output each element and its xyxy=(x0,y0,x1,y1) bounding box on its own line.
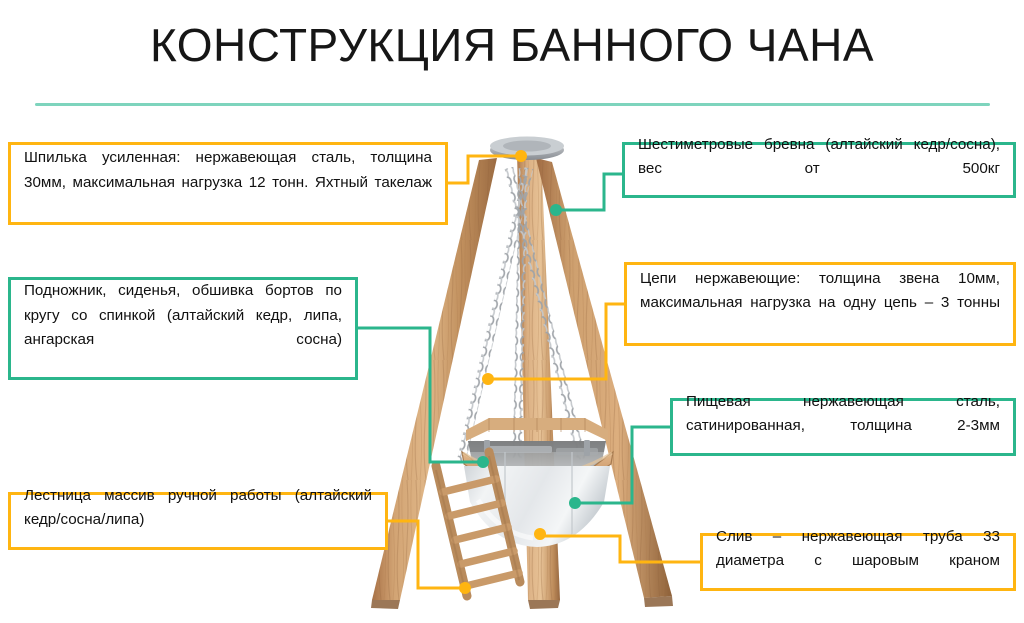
connector-dot-ladder xyxy=(459,582,471,594)
connector-logs xyxy=(556,174,622,210)
connector-dot-steel xyxy=(569,497,581,509)
callout-logs-text: Шестиметровые бревна (алтайский кедр/сос… xyxy=(638,133,1000,207)
connector-dot-drain xyxy=(534,528,546,540)
connector-dot-chains xyxy=(482,373,494,385)
connector-steel xyxy=(575,427,670,503)
connector-dot-stud xyxy=(515,150,527,162)
connector-drain xyxy=(540,534,700,562)
connector-dot-lining xyxy=(477,456,489,468)
callout-lining-text: Подножник, сиденья, обшивка бортов по кр… xyxy=(24,279,342,377)
callout-stud[interactable]: Шпилька усиленная: нержавеющая сталь, то… xyxy=(8,142,448,225)
connector-stud xyxy=(447,156,521,183)
connector-lining xyxy=(358,328,483,462)
callout-stud-text: Шпилька усиленная: нержавеющая сталь, то… xyxy=(24,146,432,220)
callout-food-steel[interactable]: Пищевая нержавеющая сталь, сатинированна… xyxy=(670,398,1016,456)
callout-ladder-text: Лестница массив ручной работы (алтайский… xyxy=(24,484,372,558)
callout-drain-text: Слив – нержавеющая труба 33 диаметра с ш… xyxy=(716,525,1000,599)
callout-logs[interactable]: Шестиметровые бревна (алтайский кедр/сос… xyxy=(622,142,1016,198)
callout-chains[interactable]: Цепи нержавеющие: толщина звена 10мм, ма… xyxy=(624,262,1016,346)
callout-lining[interactable]: Подножник, сиденья, обшивка бортов по кр… xyxy=(8,277,358,380)
callout-ladder[interactable]: Лестница массив ручной работы (алтайский… xyxy=(8,492,388,550)
callout-food-steel-text: Пищевая нержавеющая сталь, сатинированна… xyxy=(686,390,1000,464)
callout-drain[interactable]: Слив – нержавеющая труба 33 диаметра с ш… xyxy=(700,533,1016,591)
infographic-stage: КОНСТРУКЦИЯ БАННОГО ЧАНА xyxy=(0,0,1024,623)
connector-chains xyxy=(488,304,624,379)
callout-chains-text: Цепи нержавеющие: толщина звена 10мм, ма… xyxy=(640,267,1000,341)
connector-ladder xyxy=(388,521,465,588)
connector-dot-logs xyxy=(550,204,562,216)
